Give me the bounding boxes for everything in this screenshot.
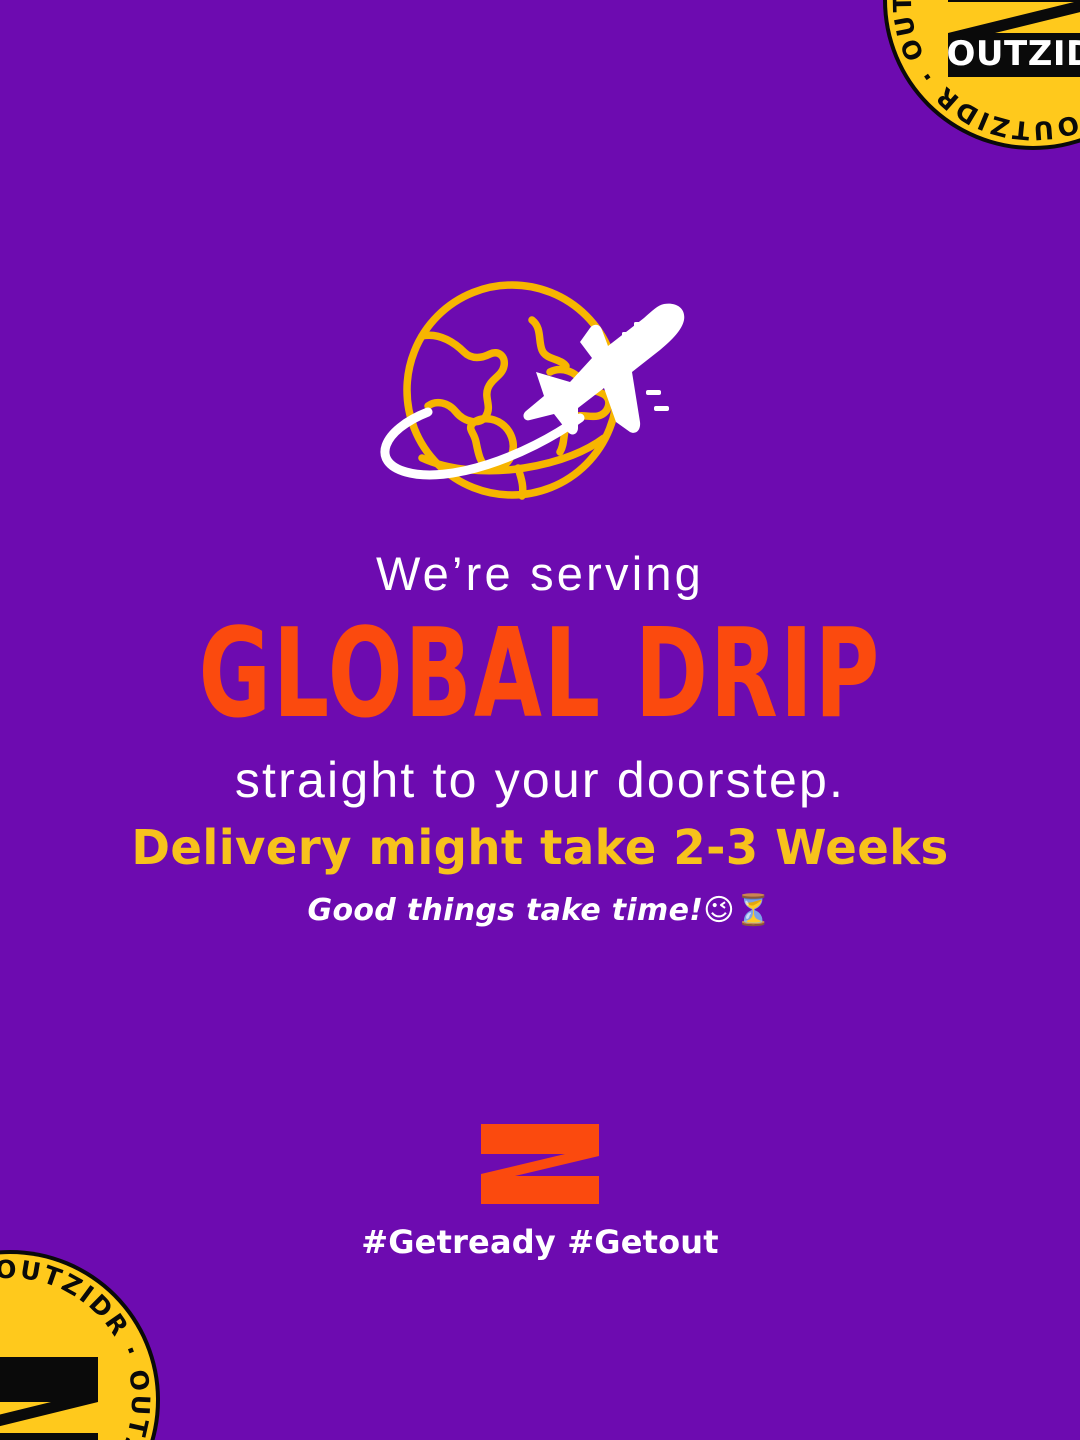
outzidr-stamp-top-right: OUTZIDR · OUTZIDR · OUTZIDR · OUTZIDR · … <box>878 0 1080 155</box>
footer-brand-block: #Getready #Getout <box>0 1122 1080 1261</box>
headline-line-doorstep: straight to your doorstep. <box>0 752 1080 808</box>
globe-airplane-illustration <box>0 272 1080 512</box>
hourglass-emoji-icon: ⏳ <box>735 893 773 928</box>
delivery-subtext: Good things take time!😉⏳ <box>0 894 1080 928</box>
outzidr-stamp-bottom-left: OUTZIDR · OUTZIDR · OUTZIDR · OUTZIDR · … <box>0 1245 165 1440</box>
wink-emoji-icon: 😉 <box>703 893 735 928</box>
headline-line-serving: We’re serving <box>0 548 1080 601</box>
delivery-subtext-text: Good things take time! <box>308 893 704 928</box>
outzidr-z-logo-icon <box>479 1122 601 1206</box>
headline-block: We’re serving GLOBAL DRIP straight to yo… <box>0 548 1080 808</box>
social-post-canvas: OUTZIDR · OUTZIDR · OUTZIDR · OUTZIDR · … <box>0 0 1080 1440</box>
delivery-notice-block: Delivery might take 2-3 Weeks Good thing… <box>0 822 1080 927</box>
delivery-headline: Delivery might take 2-3 Weeks <box>16 822 1064 876</box>
stamp-wordmark: OUTZIDR <box>0 1434 98 1440</box>
stamp-wordmark: OUTZIDR <box>947 34 1080 74</box>
headline-line-global-drip: GLOBAL DRIP <box>0 607 1080 742</box>
